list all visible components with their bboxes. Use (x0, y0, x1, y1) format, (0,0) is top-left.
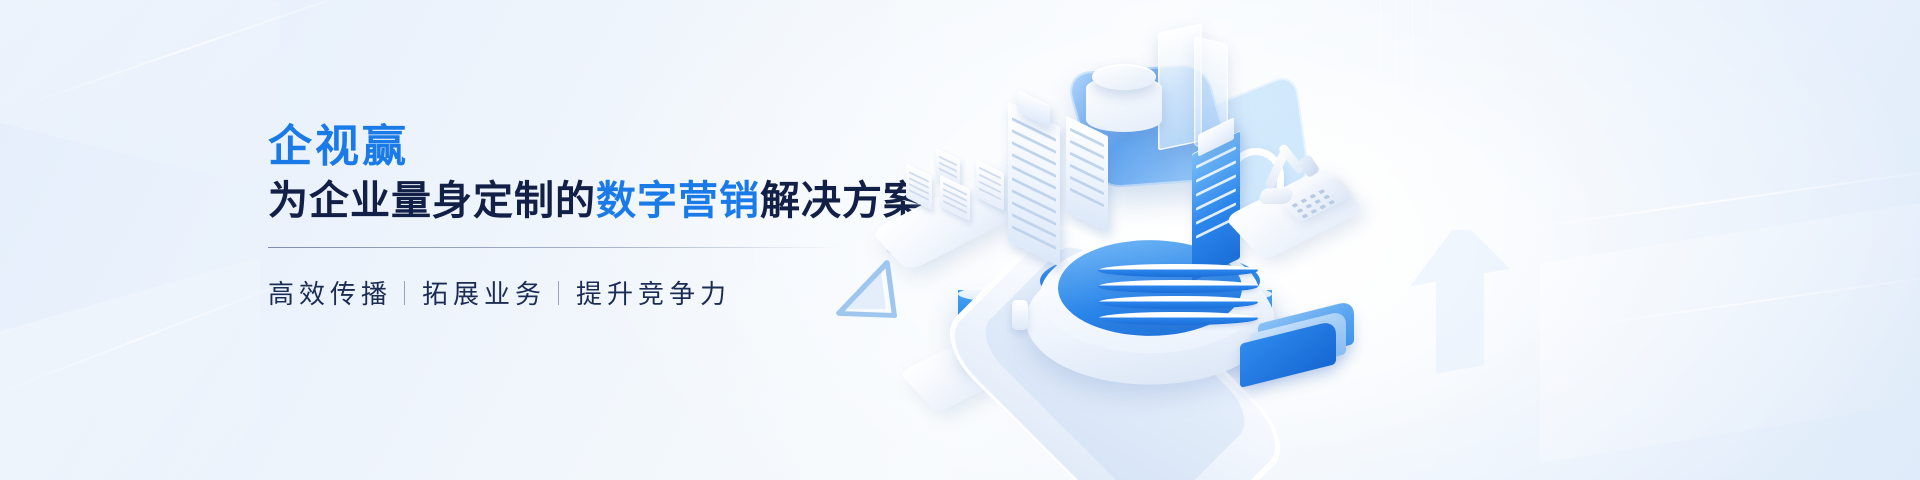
tagline-item-0: 高效传播 (268, 274, 392, 311)
hero-headline: 为企业量身定制的数字营销解决方案 (268, 177, 908, 225)
mini-building-4 (976, 159, 1004, 211)
hero-illustration (840, 0, 1920, 480)
cake-layer-2 (1098, 280, 1258, 293)
bg-polygon-left-top (0, 0, 280, 192)
glass-triangle (823, 255, 904, 322)
blue-papers (1240, 310, 1356, 372)
cake-layer-1 (1098, 264, 1258, 277)
layered-cake-building (1098, 264, 1258, 338)
mini-building-1 (906, 164, 932, 211)
bg-polygon-left-bottom (0, 257, 260, 480)
post-left (1012, 300, 1028, 330)
bg-streak-1 (11, 0, 409, 110)
arrow-icon (1400, 230, 1520, 380)
tagline-item-2: 提升竞争力 (576, 274, 731, 311)
mini-building-3 (940, 175, 970, 222)
tagline-item-1: 拓展业务 (422, 274, 546, 311)
cake-layer-3 (1098, 296, 1258, 309)
tagline-separator-0 (404, 281, 405, 305)
headline-lead: 为企业量身定制的 (268, 179, 596, 223)
tagline-separator-1 (558, 281, 559, 305)
cylinder-tower-cap (1092, 64, 1156, 90)
hero-copy-block: 企视赢 为企业量身定制的数字营销解决方案 高效传播 拓展业务 提升竞争力 (268, 122, 908, 311)
hero-tagline: 高效传播 拓展业务 提升竞争力 (268, 274, 908, 311)
headline-divider (268, 247, 842, 248)
brand-title: 企视赢 (268, 122, 908, 171)
building-tall-left (1008, 101, 1060, 266)
robot-arm-base (1258, 188, 1294, 204)
marketing-hero-banner: 企视赢 为企业量身定制的数字营销解决方案 高效传播 拓展业务 提升竞争力 (0, 0, 1920, 480)
building-mid (1066, 116, 1108, 232)
headline-highlight: 数字营销 (596, 179, 760, 223)
cake-layer-4 (1098, 312, 1258, 325)
